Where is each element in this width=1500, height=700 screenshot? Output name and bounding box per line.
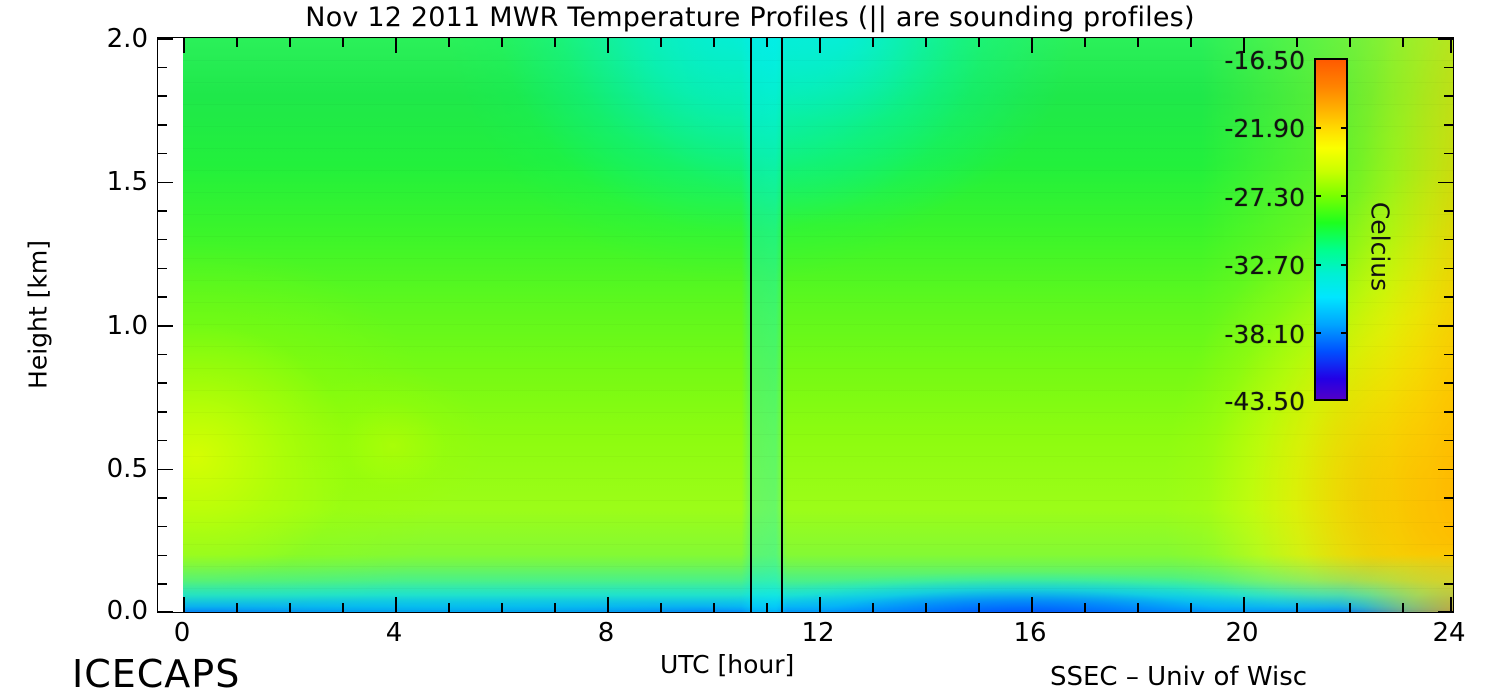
x-tick-label-8: 8 [566, 618, 646, 648]
colorbar-tick-left [1314, 127, 1321, 129]
colorbar-tick-left [1314, 332, 1321, 334]
colorbar-label-4: -32.70 [1185, 251, 1305, 280]
y-tick-minor [158, 354, 167, 356]
x-tick-top-minor [236, 38, 238, 47]
colorbar-tick-right [1341, 399, 1348, 401]
x-tick-minor [978, 603, 980, 612]
y-tick-right-minor [1444, 95, 1453, 97]
y-tick-right-minor [1444, 583, 1453, 585]
x-tick-minor [925, 603, 927, 612]
y-tick-right-minor [1444, 67, 1453, 69]
colorbar-tick-left [1314, 399, 1321, 401]
colorbar-tick-right [1341, 195, 1348, 197]
y-tick-minor [158, 497, 167, 499]
y-tick-minor [158, 67, 167, 69]
x-tick-top-minor [501, 38, 503, 47]
x-tick-minor [501, 603, 503, 612]
y-tick-right-minor [1444, 153, 1453, 155]
colorbar-tick-right [1341, 264, 1348, 266]
x-tick-major-0 [183, 597, 185, 612]
y-tick-right-minor [1444, 497, 1453, 499]
y-tick-right-minor [1444, 411, 1453, 413]
x-tick-top-major-0 [183, 38, 185, 53]
x-tick-top-major-4 [395, 38, 397, 53]
y-tick-major-1.5 [158, 182, 173, 184]
x-tick-top-minor [448, 38, 450, 47]
y-tick-right-minor [1444, 354, 1453, 356]
x-tick-top-major-24 [1450, 38, 1452, 53]
x-tick-minor [342, 603, 344, 612]
y-tick-minor [158, 440, 167, 442]
x-tick-minor [554, 603, 556, 612]
y-tick-right-minor [1444, 555, 1453, 557]
y-tick-label-2.0: 2.0 [58, 24, 148, 54]
y-tick-label-1.0: 1.0 [58, 311, 148, 341]
y-tick-right-major-2.0 [1438, 38, 1453, 40]
y-tick-minor [158, 268, 167, 270]
colorbar-tick-right [1341, 58, 1348, 60]
colorbar-label-5: -38.10 [1185, 320, 1305, 349]
sounding-profile-line-2 [781, 38, 783, 612]
x-tick-major-20 [1243, 597, 1245, 612]
x-tick-top-minor [1084, 38, 1086, 47]
x-tick-top-minor [1402, 38, 1404, 47]
x-tick-minor [1137, 603, 1139, 612]
y-tick-minor [158, 210, 167, 212]
y-tick-label-0.0: 0.0 [58, 596, 148, 626]
colorbar-tick-right [1341, 127, 1348, 129]
x-tick-label-20: 20 [1202, 618, 1282, 648]
x-tick-label-24: 24 [1409, 618, 1489, 648]
x-tick-top-major-8 [607, 38, 609, 53]
y-tick-minor [158, 95, 167, 97]
colorbar [1314, 58, 1348, 401]
y-tick-right-minor [1444, 382, 1453, 384]
y-tick-minor [158, 555, 167, 557]
x-tick-major-16 [1031, 597, 1033, 612]
x-tick-minor [660, 603, 662, 612]
x-tick-top-minor [766, 38, 768, 47]
colorbar-tick-left [1314, 58, 1321, 60]
y-tick-right-minor [1444, 296, 1453, 298]
colorbar-label-1: -16.50 [1185, 46, 1305, 75]
sounding-profile-line-1 [750, 38, 752, 612]
y-tick-right-major-0.5 [1438, 469, 1453, 471]
x-tick-minor [872, 603, 874, 612]
x-axis-title: UTC [hour] [660, 650, 794, 679]
x-tick-top-minor [1137, 38, 1139, 47]
y-axis-title: Height [km] [24, 215, 53, 415]
x-tick-minor [236, 603, 238, 612]
y-tick-label-1.5: 1.5 [58, 167, 148, 197]
y-tick-minor [158, 124, 167, 126]
x-tick-top-minor [925, 38, 927, 47]
y-tick-minor [158, 411, 167, 413]
colorbar-label-2: -21.90 [1185, 114, 1305, 143]
x-tick-minor [448, 603, 450, 612]
colorbar-label-3: -27.30 [1185, 183, 1305, 212]
y-tick-label-0.5: 0.5 [58, 454, 148, 484]
x-tick-minor [1190, 603, 1192, 612]
x-tick-top-minor [660, 38, 662, 47]
y-tick-right-minor [1444, 124, 1453, 126]
y-tick-right-major-1.5 [1438, 182, 1453, 184]
y-tick-minor [158, 583, 167, 585]
x-tick-major-12 [819, 597, 821, 612]
colorbar-title: Celcius [1366, 187, 1395, 307]
y-tick-right-major-0.0 [1438, 611, 1453, 613]
y-tick-right-minor [1444, 526, 1453, 528]
x-tick-label-16: 16 [990, 618, 1070, 648]
x-tick-label-0: 0 [142, 618, 222, 648]
x-tick-top-minor [872, 38, 874, 47]
y-tick-minor [158, 153, 167, 155]
colorbar-label-6: -43.50 [1185, 387, 1305, 416]
x-tick-minor [713, 603, 715, 612]
y-tick-right-minor [1444, 210, 1453, 212]
x-tick-top-minor [713, 38, 715, 47]
page-title: Nov 12 2011 MWR Temperature Profiles (||… [0, 2, 1500, 33]
x-tick-label-12: 12 [778, 618, 858, 648]
y-tick-major-2.0 [158, 38, 173, 40]
y-tick-right-major-1.0 [1438, 325, 1453, 327]
x-tick-minor [1349, 603, 1351, 612]
y-tick-right-minor [1444, 440, 1453, 442]
x-tick-minor [1296, 603, 1298, 612]
x-tick-top-major-16 [1031, 38, 1033, 53]
y-tick-right-minor [1444, 239, 1453, 241]
institution-credit: SSEC – Univ of Wisc [1050, 662, 1307, 692]
x-tick-minor [289, 603, 291, 612]
x-tick-top-minor [289, 38, 291, 47]
x-tick-major-8 [607, 597, 609, 612]
colorbar-tick-left [1314, 264, 1321, 266]
x-tick-top-minor [554, 38, 556, 47]
project-name-icecaps: ICECAPS [72, 652, 240, 696]
y-tick-minor [158, 526, 167, 528]
y-tick-major-0.0 [158, 611, 173, 613]
colorbar-tick-left [1314, 195, 1321, 197]
x-tick-top-minor [342, 38, 344, 47]
x-tick-top-minor [978, 38, 980, 47]
x-tick-minor [1402, 603, 1404, 612]
x-tick-minor [1084, 603, 1086, 612]
x-tick-top-minor [1349, 38, 1351, 47]
y-tick-major-1.0 [158, 325, 173, 327]
x-tick-major-4 [395, 597, 397, 612]
y-tick-minor [158, 382, 167, 384]
x-tick-minor [766, 603, 768, 612]
y-tick-right-minor [1444, 268, 1453, 270]
colorbar-tick-right [1341, 332, 1348, 334]
y-tick-minor [158, 239, 167, 241]
y-tick-minor [158, 296, 167, 298]
y-tick-major-0.5 [158, 469, 173, 471]
x-tick-label-4: 4 [354, 618, 434, 648]
x-tick-top-major-12 [819, 38, 821, 53]
